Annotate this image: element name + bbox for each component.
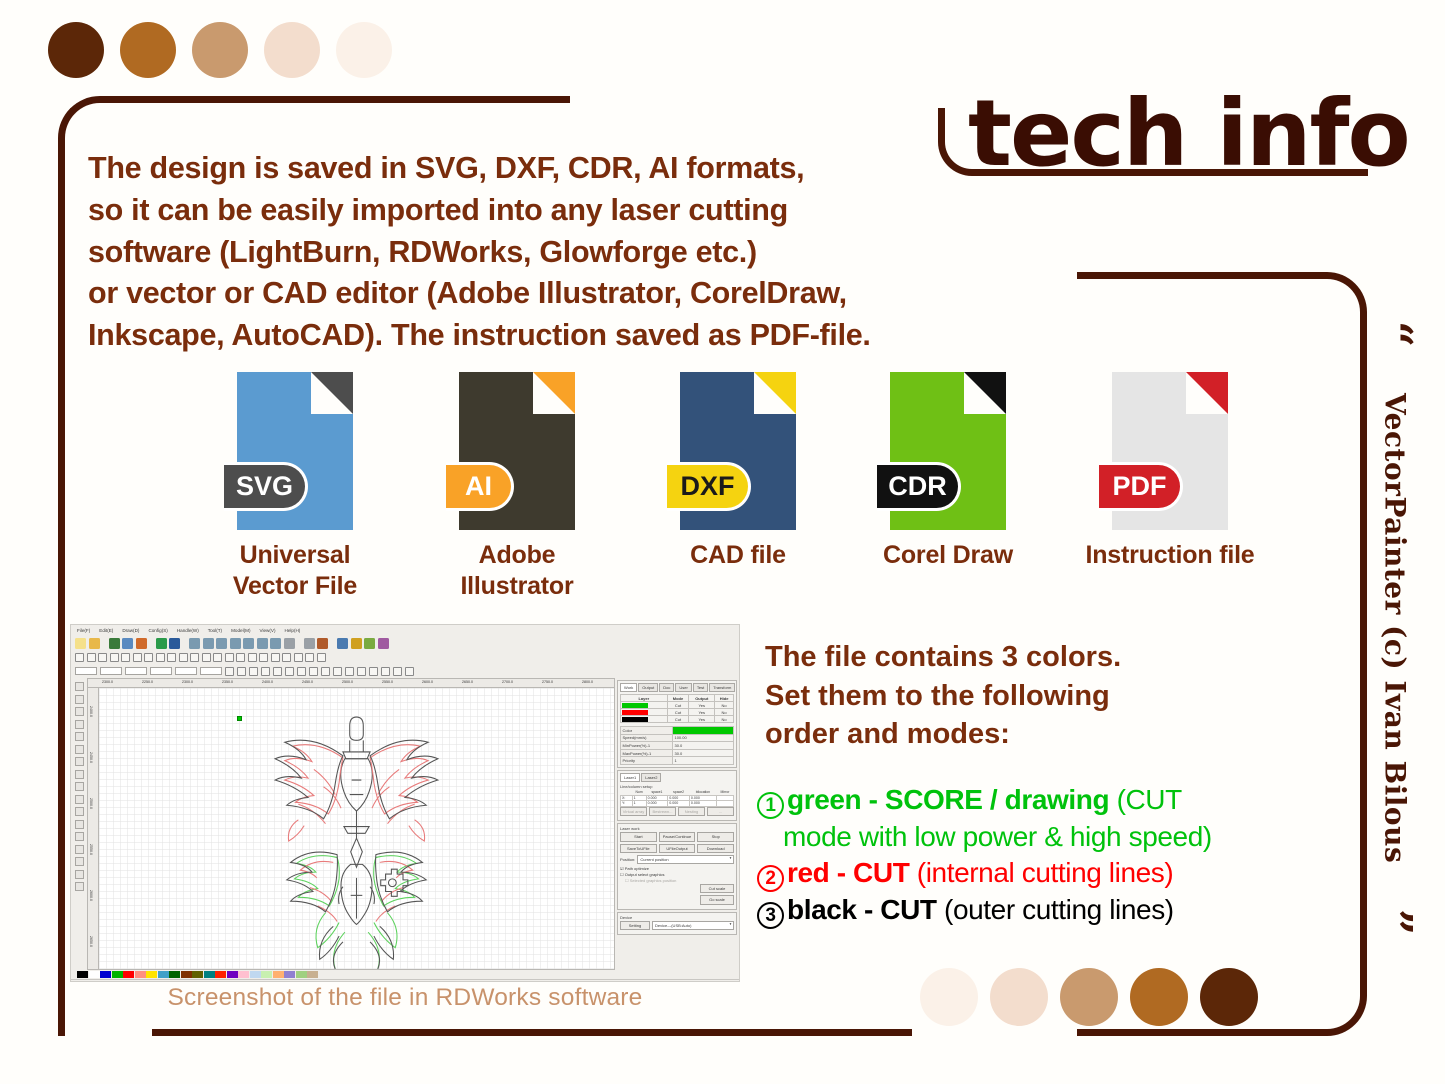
rdworks-toolbar-draw[interactable] [71,651,739,664]
side-tool-icon[interactable] [75,820,84,829]
property-label: MinPower(%)-1 [621,742,673,750]
menu-item[interactable]: Edit(E) [99,628,113,633]
palette-swatch[interactable] [273,971,284,978]
toolbar-icon[interactable] [75,638,86,649]
decorative-dots-top-left [48,22,392,78]
colors-heading-line: Set them to the following [765,677,1325,716]
status-coords: (RD) 344.0,5.2|192.080mm,Y:1334.825mm [609,981,737,983]
layer-cell: Yes [689,716,715,723]
draw-tool-icon[interactable] [144,653,153,662]
intro-line: The design is saved in SVG, DXF, CDR, AI… [88,148,968,190]
draw-tool-icon[interactable] [121,653,130,662]
lc-cell[interactable]: 0.000 [646,801,668,807]
palette-swatch[interactable] [204,971,215,978]
toolbar-icon[interactable] [364,638,375,649]
transform-icon[interactable] [273,667,282,676]
layer-color-swatch[interactable] [622,717,648,722]
property-row[interactable]: MaxPower(%)-130.0 [621,749,734,757]
panel-tab[interactable]: Doc [659,683,674,692]
palette-swatch[interactable] [215,971,226,978]
design-canvas[interactable] [99,688,614,969]
file-format-badge: SVG [224,462,308,511]
screenshot-caption: Screenshot of the file in RDWorks softwa… [70,984,740,1012]
transform-icon[interactable] [321,667,330,676]
color-palette[interactable] [71,970,739,979]
lc-cell[interactable]: Y: [621,801,633,807]
file-fold-corner [1186,372,1228,414]
property-value[interactable]: 30.0 [672,742,733,750]
position-row[interactable]: Position: Current position [620,855,734,864]
property-label: Priority [621,757,673,765]
color-mode-note: (internal cutting lines) [909,857,1173,888]
line-column-grid[interactable]: Numspace1space2bilocationMirror X:10.000… [620,790,734,807]
file-format-item: SVGUniversalVector File [205,372,385,601]
side-tool-icon[interactable] [75,720,84,729]
ruler-tick-label: 2550.0 [382,680,393,684]
palette-swatch[interactable] [169,971,180,978]
file-format-item: AIAdobeIllustrator [427,372,607,601]
side-tool-icon[interactable] [75,832,84,841]
go-scale-button[interactable]: Go scale [700,895,734,904]
file-page-icon: AI [459,372,575,530]
credit-text: VectorPainter (c) Ivan Bilous [1379,393,1412,863]
file-fold-corner [964,372,1006,414]
laser-work-button[interactable]: Start [620,832,657,841]
property-row[interactable]: Color [621,727,734,735]
lc-cell[interactable]: 0.000 [668,801,690,807]
palette-swatch[interactable] [307,971,318,978]
file-fold-corner [754,372,796,414]
draw-tool-icon[interactable] [236,653,245,662]
layer-table-header: Mode [667,695,689,702]
file-format-item: PDFInstruction file [1080,372,1260,571]
property-value[interactable]: 100.00 [672,734,733,742]
draw-tool-icon[interactable] [305,653,314,662]
panel-tab[interactable]: Transform [709,683,735,692]
palette-swatch[interactable] [77,971,88,978]
layer-color-swatch[interactable] [622,703,648,708]
transform-icon[interactable] [261,667,270,676]
palette-swatch[interactable] [100,971,111,978]
layer-cell: Yes [689,709,715,716]
transform-icon[interactable] [405,667,414,676]
toolbar-icon[interactable] [109,638,120,649]
ruler-tick-label: 2550.0 [89,844,93,855]
ruler-tick-label: 2700.0 [502,680,513,684]
intro-line: so it can be easily imported into any la… [88,190,968,232]
toolbar-icon[interactable] [169,638,180,649]
status-bar: --- "Welcome to use the Laser system of … [71,979,739,982]
draw-tool-icon[interactable] [167,653,176,662]
file-page-icon: PDF [1112,372,1228,530]
lc-cell[interactable] [716,801,733,807]
transform-icon[interactable] [369,667,378,676]
intro-line: software (LightBurn, RDWorks, Glowforge … [88,232,968,274]
side-tool-icon[interactable] [75,782,84,791]
transform-icon[interactable] [381,667,390,676]
toolbar-icon[interactable] [216,638,227,649]
transform-icon[interactable] [285,667,294,676]
palette-swatch[interactable] [227,971,238,978]
status-mode: General mode,Total count:0 [503,981,608,983]
layer-row[interactable]: CutYesNo [621,709,734,716]
circled-number: 1 [757,792,784,819]
property-value[interactable]: 1 [672,757,733,765]
panel-tab[interactable]: Work [620,683,637,692]
lc-button[interactable]: ... [707,807,734,816]
vertical-ruler: 2400.02450.02500.02550.02600.02650.0 [88,688,99,969]
position-select[interactable]: Current position [637,855,734,864]
layer-row[interactable]: CutYesNo [621,716,734,723]
path-optimize-label: Path optimize [625,866,649,871]
property-row[interactable]: MinPower(%)-130.0 [621,742,734,750]
color-mode-list: 1green - SCORE / drawing (CUTmode with l… [757,782,1337,929]
layer-table-header: Output [689,695,715,702]
layer-cell: Cut [667,702,689,709]
draw-tool-icon[interactable] [317,653,326,662]
page-title: tech info [968,80,1409,187]
toolbar-icon[interactable] [136,638,147,649]
draw-tool-icon[interactable] [202,653,211,662]
file-fold-corner [311,372,353,414]
color-dot [920,968,978,1026]
intro-paragraph: The design is saved in SVG, DXF, CDR, AI… [88,148,968,357]
file-format-item: CDRCorel Draw [858,372,1038,571]
laser-work-buttons-row2[interactable]: SaveToUFileUFileOutputDownload [620,844,734,853]
draw-tool-icon[interactable] [248,653,257,662]
color-mode-note: (outer cutting lines) [937,894,1174,925]
toolbar-icon[interactable] [230,638,241,649]
draw-tool-icon[interactable] [75,653,84,662]
transform-icon[interactable] [393,667,402,676]
side-tool-icon[interactable] [75,732,84,741]
position-label: Position: [620,857,635,862]
draw-tool-icon[interactable] [87,653,96,662]
toolbar-icon[interactable] [337,638,348,649]
layer-table[interactable]: LayerModeOutputHide CutYesNoCutYesNoCutY… [620,694,734,723]
transform-field[interactable] [200,667,222,675]
layer-cell: No [715,716,734,723]
palette-swatch[interactable] [181,971,192,978]
laser-tab[interactable]: Laser2 [641,773,661,782]
caption-line: Illustrator [427,571,607,602]
side-tool-icon[interactable] [75,770,84,779]
toolbar-icon[interactable] [270,638,281,649]
palette-swatch[interactable] [135,971,146,978]
lc-button[interactable]: Bestrewn... [649,807,676,816]
toolbar-icon[interactable] [89,638,100,649]
colors-heading-line: The file contains 3 colors. [765,638,1325,677]
line-column-title: Line/column setup [620,784,734,789]
lc-button[interactable]: Virtual array [620,807,647,816]
credit-watermark: “ VectorPainter (c) Ivan Bilous ” [1372,318,1418,938]
palette-swatch[interactable] [146,971,157,978]
side-tool-icon[interactable] [75,707,84,716]
layer-color-swatch[interactable] [622,710,648,715]
laser-tab-row[interactable]: Laser1Laser2 [620,773,734,782]
palette-swatch[interactable] [158,971,169,978]
laser-work-title: Laser work [620,826,734,831]
device-setting-button[interactable]: Setting [620,921,650,930]
caption-line: Adobe [427,540,607,571]
menu-item[interactable]: Handle(W) [177,628,199,633]
color-dot [48,22,104,78]
file-format-caption: UniversalVector File [205,540,385,601]
file-format-caption: Instruction file [1080,540,1260,571]
menu-item[interactable]: Model(M) [231,628,250,633]
rdworks-right-panel[interactable]: WorkOutputDocUserTestTransform LayerMode… [615,678,739,970]
device-panel: Device Setting Device---(USB:Auto) [617,912,737,935]
panel-tab[interactable]: User [675,683,691,692]
layer-cell: Cut [667,709,689,716]
transform-icon[interactable] [345,667,354,676]
lc-cell[interactable]: 1 [632,801,646,807]
color-dot [264,22,320,78]
color-mode-item: 1green - SCORE / drawing (CUT [757,782,1337,819]
palette-swatch[interactable] [284,971,295,978]
file-format-caption: CAD file [648,540,828,571]
rdworks-menubar[interactable]: File(F)Edit(E)Draw(D)Config(S)Handle(W)T… [71,625,739,636]
colors-heading-line: order and modes: [765,715,1325,754]
ruler-tick-label: 2600.0 [89,890,93,901]
lc-row[interactable]: Y:10.0000.0000.000 [621,801,734,807]
rdworks-toolbar-main[interactable] [71,636,739,651]
toolbar-icon[interactable] [156,638,167,649]
side-tool-icon[interactable] [75,882,84,891]
layer-table-header: Hide [715,695,734,702]
transform-icon[interactable] [333,667,342,676]
property-value[interactable]: 30.0 [672,749,733,757]
draw-tool-icon[interactable] [98,653,107,662]
file-format-badge: CDR [877,462,961,511]
side-tool-icon[interactable] [75,757,84,766]
layer-properties-table[interactable]: ColorSpeed(mm/s)100.00MinPower(%)-130.0M… [620,726,734,765]
caption-line: CAD file [648,540,828,571]
toolbar-icon[interactable] [304,638,315,649]
layer-row[interactable]: CutYesNo [621,702,734,709]
palette-swatch[interactable] [238,971,249,978]
transform-field[interactable] [150,667,172,675]
color-mode-note-cont: mode with low power & high speed) [757,819,1337,855]
side-tool-icon[interactable] [75,682,84,691]
property-label: Speed(mm/s) [621,734,673,742]
side-tool-icon[interactable] [75,695,84,704]
side-tool-icon[interactable] [75,857,84,866]
menu-item[interactable]: Tool(T) [208,628,222,633]
toolbar-icon[interactable] [284,638,295,649]
toolbar-icon[interactable] [122,638,133,649]
color-mode-name: green - SCORE / drawing [787,784,1109,815]
close-quote-icon: ” [1379,909,1411,935]
transform-icon[interactable] [297,667,306,676]
device-title: Device [620,915,734,920]
palette-swatch[interactable] [296,971,307,978]
menu-item[interactable]: File(F) [77,628,90,633]
side-tool-icon[interactable] [75,795,84,804]
toolbar-icon[interactable] [351,638,362,649]
panel-tab[interactable]: Test [693,683,708,692]
draw-tool-icon[interactable] [259,653,268,662]
rdworks-canvas-area[interactable]: 2300.02250.02300.02350.02400.02450.02500… [87,678,615,970]
layer-cell: Yes [689,702,715,709]
laser-work-button[interactable]: SaveToUFile [620,844,657,853]
path-optimize-checkbox[interactable]: ☑ Path optimize [620,866,734,871]
draw-tool-icon[interactable] [213,653,222,662]
transform-field[interactable] [100,667,122,675]
ruler-tick-label: 2650.0 [89,936,93,947]
transform-icon[interactable] [357,667,366,676]
palette-swatch[interactable] [112,971,123,978]
layer-cell: Cut [667,716,689,723]
palette-swatch[interactable] [123,971,134,978]
toolbar-icon[interactable] [203,638,214,649]
property-value[interactable] [672,727,733,735]
color-mode-name: red - CUT [787,857,909,888]
draw-tool-icon[interactable] [225,653,234,662]
toolbar-icon[interactable] [257,638,268,649]
selected-graphics-position-checkbox: ☐ Selected graphics position [620,878,734,883]
menu-item[interactable]: Config(S) [148,628,167,633]
open-quote-icon: “ [1379,321,1411,347]
caption-line: Instruction file [1080,540,1260,571]
intro-line: or vector or CAD editor (Adobe Illustrat… [88,273,968,315]
color-mode-name: black - CUT [787,894,937,925]
side-tool-icon[interactable] [75,845,84,854]
property-label: Color [621,727,673,735]
output-select-graphics-label: Output select graphics [625,872,665,877]
layer-table-header: Layer [621,695,668,702]
side-tool-icon[interactable] [75,745,84,754]
draw-tool-icon[interactable] [190,653,199,662]
line-column-buttons[interactable]: Virtual arrayBestrewn...Nesting... [620,807,734,816]
ruler-tick-label: 2650.0 [462,680,473,684]
toolbar-icon[interactable] [317,638,328,649]
line-column-panel: Laser1Laser2 Line/column setup Numspace1… [617,770,737,821]
laser-work-button[interactable]: Stop [697,832,734,841]
draw-tool-icon[interactable] [294,653,303,662]
palette-swatch[interactable] [261,971,272,978]
toolbar-icon[interactable] [378,638,389,649]
status-message: --- "Welcome to use the Laser system of … [72,981,502,983]
layer-cell: No [715,702,734,709]
ruler-tick-label: 2350.0 [222,680,233,684]
ruler-tick-label: 2400.0 [89,706,93,717]
caption-line: Vector File [205,571,385,602]
ruler-tick-label: 2500.0 [89,798,93,809]
horizontal-ruler: 2300.02250.02300.02350.02400.02450.02500… [88,679,614,688]
laser-work-buttons-row1[interactable]: StartPause/ContinueStop [620,832,734,841]
ruler-tick-label: 2250.0 [142,680,153,684]
color-dot [990,968,1048,1026]
caption-line: Universal [205,540,385,571]
ruler-tick-label: 2600.0 [422,680,433,684]
property-row[interactable]: Speed(mm/s)100.00 [621,734,734,742]
laser-work-button[interactable]: UFileOutput [659,844,696,853]
ruler-tick-label: 2300.0 [182,680,193,684]
file-format-caption: Corel Draw [858,540,1038,571]
ruler-tick-label: 2450.0 [302,680,313,684]
laser-tab[interactable]: Laser1 [620,773,640,782]
rdworks-screenshot: File(F)Edit(E)Draw(D)Config(S)Handle(W)T… [70,624,740,982]
transform-field[interactable] [175,667,197,675]
file-format-badge: AI [446,462,514,511]
ruler-tick-label: 2500.0 [342,680,353,684]
ruler-tick-label: 2400.0 [262,680,273,684]
transform-icon[interactable] [249,667,258,676]
color-dot [120,22,176,78]
laser-work-button[interactable]: Download [697,844,734,853]
work-panel: WorkOutputDocUserTestTransform LayerMode… [617,680,737,768]
file-format-badge: PDF [1099,462,1183,511]
file-fold-corner [533,372,575,414]
ruler-tick-label: 2750.0 [542,680,553,684]
palette-swatch[interactable] [192,971,203,978]
color-dot [336,22,392,78]
laser-work-button[interactable]: Pause/Continue [659,832,696,841]
toolbar-icon[interactable] [189,638,200,649]
color-mode-item: 2red - CUT (internal cutting lines) [757,855,1337,892]
ruler-tick-label: 2450.0 [89,752,93,763]
rdworks-tool-palette[interactable] [71,678,87,970]
draw-tool-icon[interactable] [156,653,165,662]
side-tool-icon[interactable] [75,807,84,816]
selected-graphics-position-label: Selected graphics position [630,878,677,883]
draw-tool-icon[interactable] [282,653,291,662]
output-select-graphics-checkbox[interactable]: ☐ Output select graphics [620,872,734,877]
dragon-sword-vector-artwork [99,688,614,969]
lc-button[interactable]: Nesting [678,807,705,816]
transform-icon[interactable] [309,667,318,676]
draw-tool-icon[interactable] [179,653,188,662]
file-format-caption: AdobeIllustrator [427,540,607,601]
cut-scale-button[interactable]: Cut scale [700,884,734,893]
color-mode-note: (CUT [1109,784,1182,815]
palette-swatch[interactable] [89,971,100,978]
lc-cell[interactable]: 0.000 [689,801,716,807]
property-row[interactable]: Priority1 [621,757,734,765]
transform-field[interactable] [75,667,97,675]
transform-icon[interactable] [225,667,234,676]
file-format-badge: DXF [667,462,751,511]
colors-heading: The file contains 3 colors. Set them to … [765,638,1325,754]
draw-tool-icon[interactable] [110,653,119,662]
palette-swatch[interactable] [250,971,261,978]
circled-number: 2 [757,865,784,892]
toolbar-icon[interactable] [243,638,254,649]
menu-item[interactable]: Help(H) [285,628,301,633]
file-format-list: SVGUniversalVector FileAIAdobeIllustrato… [205,372,1295,602]
panel-tab-row[interactable]: WorkOutputDocUserTestTransform [620,683,734,692]
menu-item[interactable]: Draw(D) [122,628,139,633]
transform-icon[interactable] [237,667,246,676]
transform-field[interactable] [125,667,147,675]
color-mode-item: 3black - CUT (outer cutting lines) [757,892,1337,929]
layer-cell: No [715,709,734,716]
rdworks-toolbar-transform[interactable] [71,664,739,678]
file-page-icon: SVG [237,372,353,530]
caption-line: Corel Draw [858,540,1038,571]
draw-tool-icon[interactable] [271,653,280,662]
property-label: MaxPower(%)-1 [621,749,673,757]
menu-item[interactable]: View(V) [260,628,276,633]
draw-tool-icon[interactable] [133,653,142,662]
side-tool-icon[interactable] [75,870,84,879]
circled-number: 3 [757,902,784,929]
file-page-icon: CDR [890,372,1006,530]
color-dot [192,22,248,78]
device-select[interactable]: Device---(USB:Auto) [652,921,734,930]
panel-tab[interactable]: Output [638,683,658,692]
